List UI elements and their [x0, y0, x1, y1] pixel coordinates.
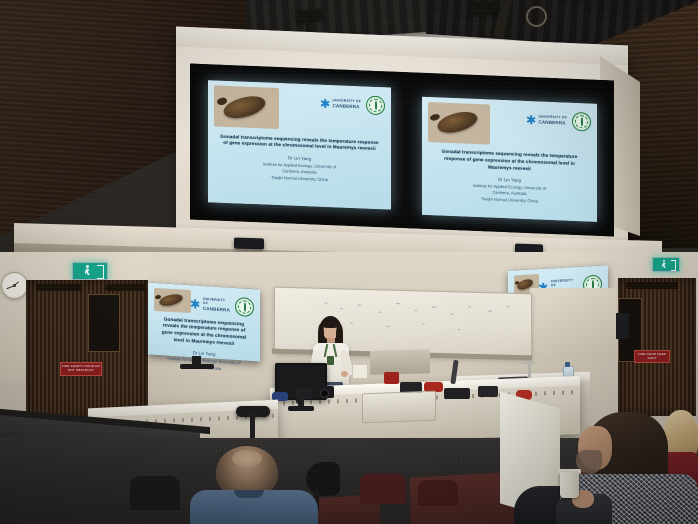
av-equipment — [444, 388, 470, 399]
door-notice-left: FIRE SAFETY DOOR DO NOT OBSTRUCT — [60, 362, 102, 376]
name-badge — [327, 356, 334, 365]
speaker-icon — [234, 238, 264, 250]
clock-center-pin — [13, 284, 15, 286]
slide-logos: UNIVERSITY OF CANBERRA — [191, 290, 254, 317]
camera-lens-icon — [320, 389, 329, 398]
turtle-photo — [154, 288, 191, 313]
ceiling-cable-ring — [526, 6, 547, 27]
turtle-photo — [428, 102, 490, 144]
university-wordmark: UNIVERSITY OF CANBERRA — [538, 115, 567, 125]
org-line-2: CANBERRA — [203, 306, 230, 313]
university-wordmark: UNIVERSITY OF CANBERRA — [203, 298, 230, 313]
projector-icon — [296, 9, 323, 21]
org-line-2: CANBERRA — [332, 103, 361, 109]
running-person-glyph — [661, 260, 668, 269]
coffee-cup — [560, 472, 579, 498]
exit-sign-icon — [652, 257, 680, 272]
audience-scalp — [232, 450, 262, 467]
slide-author-block: Dr Lin Yang Institute for Applied Ecolog… — [154, 347, 254, 358]
projection-screen-right: UNIVERSITY OF CANBERRA Gonadal transcrip… — [422, 97, 597, 222]
projector-icon — [470, 1, 499, 13]
slide-header: UNIVERSITY OF CANBERRA — [154, 288, 254, 319]
monitor-screen: UNIVERSITY OF CANBERRA Gonadal transcrip… — [151, 286, 257, 359]
presentation-slide: UNIVERSITY OF CANBERRA Gonadal transcrip… — [151, 286, 257, 359]
white-equipment-box — [352, 364, 368, 379]
auditorium-chair — [418, 480, 458, 506]
lecture-theatre-photo: UNIVERSITY OF CANBERRA Gonadal transcrip… — [0, 0, 698, 524]
audience-collar — [234, 490, 264, 498]
av-equipment — [478, 386, 498, 397]
turtle-photo — [214, 85, 279, 129]
confidence-monitor-left: UNIVERSITY OF CANBERRA Gonadal transcrip… — [148, 282, 260, 361]
slide-title: Gonadal transcriptome sequencing reveals… — [428, 148, 591, 175]
camera-body — [296, 388, 312, 399]
door-left[interactable] — [26, 280, 148, 422]
projection-screen-left: UNIVERSITY OF CANBERRA Gonadal transcrip… — [208, 80, 391, 209]
presentation-slide: UNIVERSITY OF CANBERRA Gonadal transcrip… — [208, 80, 391, 209]
slide-title: Gonadal transcriptome sequencing reveals… — [214, 133, 385, 153]
presenter-hand-right — [341, 371, 348, 377]
university-mark-icon — [526, 115, 535, 124]
university-mark-icon — [191, 299, 200, 309]
audience-member-left — [190, 446, 320, 524]
auditorium-chair — [130, 476, 180, 510]
red-equipment-case — [384, 372, 399, 384]
lectern-control-panel[interactable] — [362, 391, 436, 424]
university-mark-icon — [320, 99, 329, 108]
exit-door-glyph — [97, 265, 103, 279]
org-line-2: CANBERRA — [538, 119, 567, 125]
slide-header: UNIVERSITY OF CANBERRA — [428, 102, 591, 152]
equipment-cart — [370, 349, 430, 375]
presentation-slide: UNIVERSITY OF CANBERRA Gonadal transcrip… — [422, 97, 597, 222]
door-vision-panel — [88, 294, 120, 352]
door-closer-bar — [626, 282, 678, 289]
door-notice-right: FIRE DOOR KEEP SHUT — [634, 350, 670, 363]
slide-header: UNIVERSITY OF CANBERRA — [214, 85, 385, 137]
slide-author-block: Dr Lin Yang Institute for Applied Ecolog… — [428, 173, 591, 207]
exit-door-glyph — [671, 260, 676, 272]
monitor-base — [180, 364, 214, 369]
projection-screen-recess: UNIVERSITY OF CANBERRA Gonadal transcrip… — [190, 63, 614, 236]
wall-section-right — [530, 288, 616, 360]
exit-sign-icon — [72, 262, 108, 280]
bottle-cap — [565, 362, 570, 367]
institute-seal-icon — [235, 297, 254, 317]
institute-seal-icon — [366, 96, 385, 116]
door-closer-bar — [106, 284, 146, 291]
slide-author-block: Dr Lin Yang Institute for Applied Ecolog… — [214, 152, 385, 187]
audience-member-right — [556, 412, 698, 524]
wall-clock — [1, 272, 28, 299]
running-person-glyph — [83, 265, 92, 277]
university-wordmark: UNIVERSITY OF CANBERRA — [332, 99, 361, 109]
lectern-monitor-base — [288, 406, 314, 411]
slide-logos: UNIVERSITY OF CANBERRA — [320, 90, 385, 116]
slide-title: Gonadal transcriptome sequencing reveals… — [154, 316, 254, 349]
auditorium-chair — [360, 474, 406, 504]
door-closer-bar — [36, 284, 82, 291]
slide-logos: UNIVERSITY OF CANBERRA — [526, 106, 591, 132]
institute-seal-icon — [572, 112, 591, 132]
